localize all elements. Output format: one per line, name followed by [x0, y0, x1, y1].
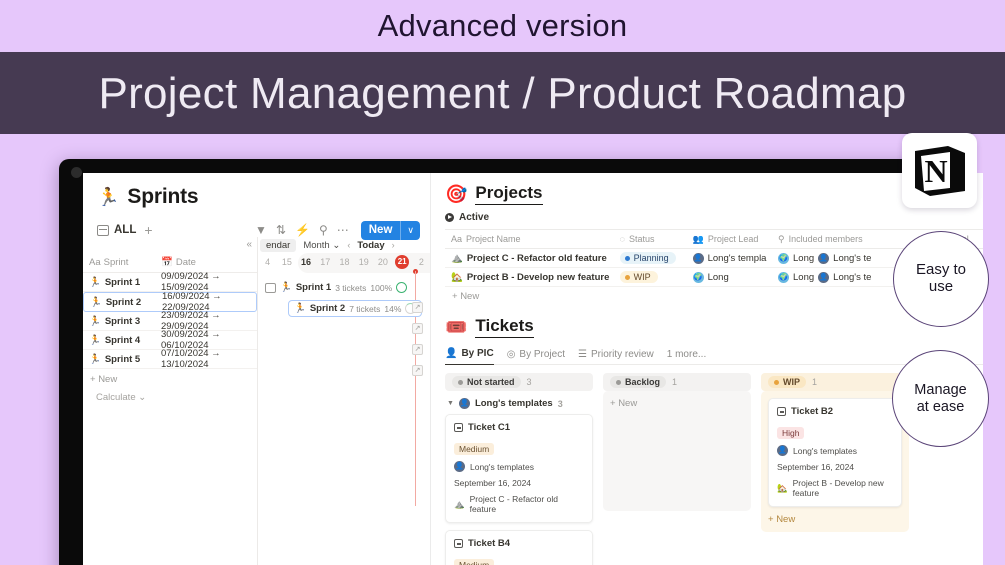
- progress-ring-icon: [396, 282, 407, 293]
- play-circle-icon: [445, 213, 454, 222]
- tickets-tabs: 👤 By PIC ◎ By Project ☰ Priority review …: [445, 344, 983, 365]
- callout-line1: Easy to: [916, 262, 966, 279]
- filter-icon[interactable]: ▼: [255, 224, 267, 236]
- column-header-date[interactable]: 📅 Date: [155, 257, 255, 268]
- column-body: + New: [603, 391, 751, 511]
- ticket-project: Project C - Refactor old feature: [470, 494, 584, 514]
- sprint-name: Sprint 2: [106, 297, 141, 308]
- callout-manage-at-ease: Manage at ease: [892, 350, 989, 447]
- sprint-date: 09/09/2024 → 15/09/2024: [155, 271, 255, 293]
- priority-badge: Medium: [454, 559, 494, 565]
- runner-icon: 🏃: [89, 335, 101, 346]
- tab-priority-review[interactable]: ☰ Priority review: [578, 344, 654, 365]
- sprints-table-header: Aa Sprint 📅 Date: [83, 253, 257, 273]
- expand-row-icon[interactable]: ↗: [412, 323, 423, 334]
- subgroup-header[interactable]: ▼ 👤 Long's templates 3: [447, 398, 593, 409]
- callout-line1: Manage: [914, 382, 966, 398]
- search-icon: ⚲: [778, 234, 785, 245]
- timeline-body: 🏃 Sprint 1 3 tickets 100% 🏃 Sprint 2 7 t…: [258, 271, 431, 521]
- table-row[interactable]: 🏃Sprint 5 07/10/2024 → 13/10/2024: [83, 350, 257, 369]
- column-header-status[interactable]: ◌ Status: [614, 234, 687, 244]
- ticket-icon: [454, 423, 463, 432]
- right-pane: 🎯 Projects Active Aa Project Name ◌: [431, 173, 983, 565]
- ticket-card[interactable]: Ticket C1 Medium 👤Long's templates Septe…: [445, 414, 593, 523]
- timeline-toolbar: endar Month ⌄ ‹ Today ›: [258, 237, 431, 253]
- ticket-card[interactable]: Ticket B4 Medium 👤: [445, 530, 593, 565]
- ticket-title: Ticket C1: [468, 422, 510, 433]
- banner-title: Project Management / Product Roadmap: [0, 53, 1005, 135]
- prev-period-button[interactable]: ‹: [347, 240, 350, 250]
- notion-logo-badge: N: [902, 133, 977, 208]
- project-lead: Long: [708, 272, 729, 283]
- target-icon: 🎯: [445, 185, 467, 203]
- column-header-sprint[interactable]: Aa Sprint: [83, 257, 155, 268]
- expand-row-icon[interactable]: ↗: [412, 302, 423, 313]
- member-name: Long's te: [833, 253, 871, 264]
- timeline-bar-name: Sprint 2: [310, 303, 345, 314]
- column-count: 1: [812, 377, 817, 387]
- ruler-day: 4: [258, 257, 277, 267]
- svg-text:N: N: [924, 153, 947, 189]
- ruler-day: 18: [335, 257, 354, 267]
- calculate-label: Calculate: [96, 392, 136, 403]
- subgroup-label: Long's templates: [475, 398, 553, 409]
- search-icon[interactable]: ⚲: [319, 224, 328, 236]
- tab-more[interactable]: 1 more...: [667, 344, 706, 365]
- target-icon: ◎: [507, 349, 516, 360]
- text-type-icon: Aa: [89, 257, 101, 268]
- more-icon[interactable]: ⋯: [337, 224, 349, 236]
- laptop-frame: 🏃 Sprints ALL + ▼ ⇅ ⚡: [59, 159, 959, 565]
- timeline-ruler: 4 15 16 17 18 19 20 21 2: [258, 253, 431, 271]
- tickets-header: 🎟️ Tickets: [431, 302, 983, 342]
- column-header-sprint-label: Sprint: [104, 257, 129, 268]
- avatar: 🌍: [778, 253, 789, 264]
- calendar-icon: 📅: [161, 257, 173, 268]
- people-icon: 👥: [693, 234, 704, 245]
- view-tab-all[interactable]: ALL: [97, 224, 136, 236]
- status-badge: WIP: [768, 376, 806, 388]
- column-header-project-name[interactable]: Aa Project Name: [445, 234, 614, 244]
- timeline-bar[interactable]: 🏃 Sprint 2 7 tickets 14%: [288, 300, 422, 317]
- ruler-day: 19: [354, 257, 373, 267]
- table-view-icon: [97, 225, 109, 236]
- column-header[interactable]: Backlog 1: [603, 373, 751, 391]
- ticket-card[interactable]: Ticket B2 High 👤Long's templates Septemb…: [768, 398, 902, 507]
- ruler-day-today: 21: [393, 255, 412, 269]
- table-row[interactable]: 🏃Sprint 2 16/09/2024 → 22/09/2024: [83, 292, 257, 312]
- ticket-date: September 16, 2024: [454, 478, 531, 488]
- ruler-day: 17: [316, 257, 335, 267]
- avatar: 👤: [818, 272, 829, 283]
- timeline-bar[interactable]: 🏃 Sprint 1 3 tickets 100%: [260, 279, 412, 296]
- column-header[interactable]: WIP 1: [761, 373, 909, 391]
- ticket-icon: [454, 539, 463, 548]
- sprints-pane: 🏃 Sprints ALL + ▼ ⇅ ⚡: [83, 173, 431, 565]
- next-period-button[interactable]: ›: [392, 240, 395, 250]
- mountain-icon: ⛰️: [451, 253, 463, 264]
- board-column-not-started: Not started 3 ▼ 👤 Long's templates 3 Tic…: [445, 373, 593, 565]
- sprint-name: Sprint 3: [105, 316, 140, 327]
- project-name: Project B - Develop new feature: [467, 272, 610, 283]
- list-icon: ☰: [578, 349, 587, 360]
- projects-group-label: Active: [459, 212, 489, 223]
- member-name: Long: [793, 272, 814, 283]
- zoom-select[interactable]: Month ⌄: [303, 240, 340, 251]
- text-type-icon: Aa: [451, 234, 462, 244]
- table-row[interactable]: 🏃Sprint 1 09/09/2024 → 15/09/2024: [83, 273, 257, 292]
- callout-line2: use: [916, 279, 966, 296]
- projects-title[interactable]: Projects: [475, 183, 542, 205]
- ticket-title: Ticket B4: [468, 538, 510, 549]
- today-button[interactable]: Today: [357, 240, 384, 251]
- sprints-header: 🏃 Sprints: [83, 173, 430, 215]
- screenshot-root: Advanced version Project Management / Pr…: [0, 0, 1005, 565]
- calculate-button[interactable]: Calculate ⌄: [83, 388, 257, 403]
- add-row-label: New: [98, 374, 117, 385]
- priority-badge: High: [777, 427, 804, 439]
- runner-icon: 🏃: [97, 188, 119, 206]
- add-card-button[interactable]: + New: [768, 514, 902, 525]
- priority-badge: Medium: [454, 443, 494, 455]
- ticket-assignee: Long's templates: [470, 462, 534, 472]
- ruler-day: 15: [277, 257, 296, 267]
- status-badge: Backlog: [610, 376, 666, 388]
- subgroup-count: 3: [558, 399, 563, 409]
- expand-row-icon[interactable]: ↗: [412, 365, 423, 376]
- banner-subtitle: Advanced version: [0, 4, 1005, 48]
- member-name: Long's te: [833, 272, 871, 283]
- ticket-icon: [777, 407, 786, 416]
- ticket-date: September 16, 2024: [777, 462, 854, 472]
- column-count: 1: [672, 377, 677, 387]
- sprints-title: Sprints: [127, 185, 198, 209]
- runner-icon: 🏃: [89, 277, 101, 288]
- timeline-bar-tickets: 3 tickets: [335, 283, 366, 293]
- add-project-label: New: [460, 291, 479, 302]
- timeline-bar-name: Sprint 1: [296, 282, 331, 293]
- avatar: 👤: [693, 253, 704, 264]
- project-lead: Long's templa: [708, 253, 767, 264]
- runner-icon: 🏃: [89, 354, 101, 365]
- open-page-icon[interactable]: [265, 283, 276, 293]
- tab-by-pic[interactable]: 👤 By PIC: [445, 344, 494, 365]
- ruler-day: 16: [296, 257, 315, 267]
- status-badge: WIP: [620, 271, 658, 283]
- avatar: 👤: [818, 253, 829, 264]
- add-row-button[interactable]: + New: [83, 369, 257, 388]
- board-column-wip: WIP 1 Ticket B2 High 👤Long's templates S…: [761, 373, 909, 565]
- camera-icon: [71, 167, 82, 178]
- runner-icon: 🏃: [280, 282, 292, 293]
- add-card-button[interactable]: + New: [610, 398, 744, 409]
- sprints-timeline: endar Month ⌄ ‹ Today › 4 15 16 17: [258, 237, 431, 565]
- column-header-date-label: Date: [176, 257, 196, 268]
- house-icon: 🏡: [777, 483, 788, 494]
- projects-header: 🎯 Projects: [431, 173, 983, 209]
- avatar: 🌍: [778, 272, 789, 283]
- status-badge: Not started: [452, 376, 521, 388]
- avatar: 👤: [459, 398, 470, 409]
- callout-easy-to-use: Easy to use: [893, 231, 989, 327]
- column-header-included-members[interactable]: ⚲ Included members: [772, 234, 916, 245]
- add-view-button[interactable]: +: [144, 223, 152, 237]
- column-header[interactable]: Not started 3: [445, 373, 593, 391]
- status-badge: Planning: [620, 252, 676, 264]
- sprint-name: Sprint 5: [105, 354, 140, 365]
- mountain-icon: ⛰️: [454, 499, 465, 510]
- timeline-bar-percent: 100%: [370, 283, 392, 293]
- sprint-name: Sprint 1: [105, 277, 140, 288]
- status-icon: ◌: [620, 234, 625, 244]
- view-tab-all-label: ALL: [114, 224, 136, 236]
- house-icon: 🏡: [451, 272, 463, 283]
- sprints-split: « Aa Sprint 📅 Date: [83, 237, 431, 565]
- avatar: 👤: [454, 461, 465, 472]
- ruler-day: 2: [412, 257, 431, 267]
- timeline-bar-percent: 14%: [384, 304, 401, 314]
- sprint-name: Sprint 4: [105, 335, 140, 346]
- column-body: Ticket B2 High 👤Long's templates Septemb…: [761, 391, 909, 532]
- runner-icon: 🏃: [90, 297, 102, 308]
- notion-logo-icon: N: [910, 142, 970, 200]
- person-icon: 👤: [445, 348, 457, 359]
- expand-row-icon[interactable]: ↗: [412, 344, 423, 355]
- projects-table-header: Aa Project Name ◌ Status 👥 Project Lead: [445, 230, 983, 249]
- runner-icon: 🏃: [294, 303, 306, 314]
- calendar-tab[interactable]: endar: [260, 239, 296, 252]
- ticket-assignee: Long's templates: [793, 446, 857, 456]
- projects-group-header[interactable]: Active: [431, 209, 983, 227]
- column-count: 3: [527, 377, 532, 387]
- sprints-table: « Aa Sprint 📅 Date: [83, 237, 258, 565]
- timeline-bar-tickets: 7 tickets: [349, 304, 380, 314]
- chevron-down-icon[interactable]: ▼: [447, 400, 454, 407]
- sort-icon[interactable]: ⇅: [276, 224, 286, 236]
- ticket-title: Ticket B2: [791, 406, 833, 417]
- app-screen: 🏃 Sprints ALL + ▼ ⇅ ⚡: [83, 173, 983, 565]
- callout-line2: at ease: [914, 399, 966, 415]
- ticket-project: Project B - Develop new feature: [793, 478, 893, 498]
- avatar: 🌍: [693, 272, 704, 283]
- runner-icon: 🏃: [89, 316, 101, 327]
- project-name: Project C - Refactor old feature: [467, 253, 607, 264]
- avatar: 👤: [777, 445, 788, 456]
- lightning-icon[interactable]: ⚡: [295, 224, 310, 236]
- collapse-panel-icon[interactable]: «: [246, 239, 252, 250]
- member-name: Long: [793, 253, 814, 264]
- tickets-title[interactable]: Tickets: [475, 316, 533, 338]
- sprint-date: 07/10/2024 → 13/10/2024: [155, 348, 255, 370]
- column-header-project-lead[interactable]: 👥 Project Lead: [687, 234, 772, 245]
- ticket-icon: 🎟️: [445, 318, 467, 336]
- tab-by-project[interactable]: ◎ By Project: [507, 344, 565, 365]
- collapse-row: «: [83, 237, 257, 253]
- ruler-day: 20: [373, 257, 392, 267]
- board-column-backlog: Backlog 1 + New: [603, 373, 751, 565]
